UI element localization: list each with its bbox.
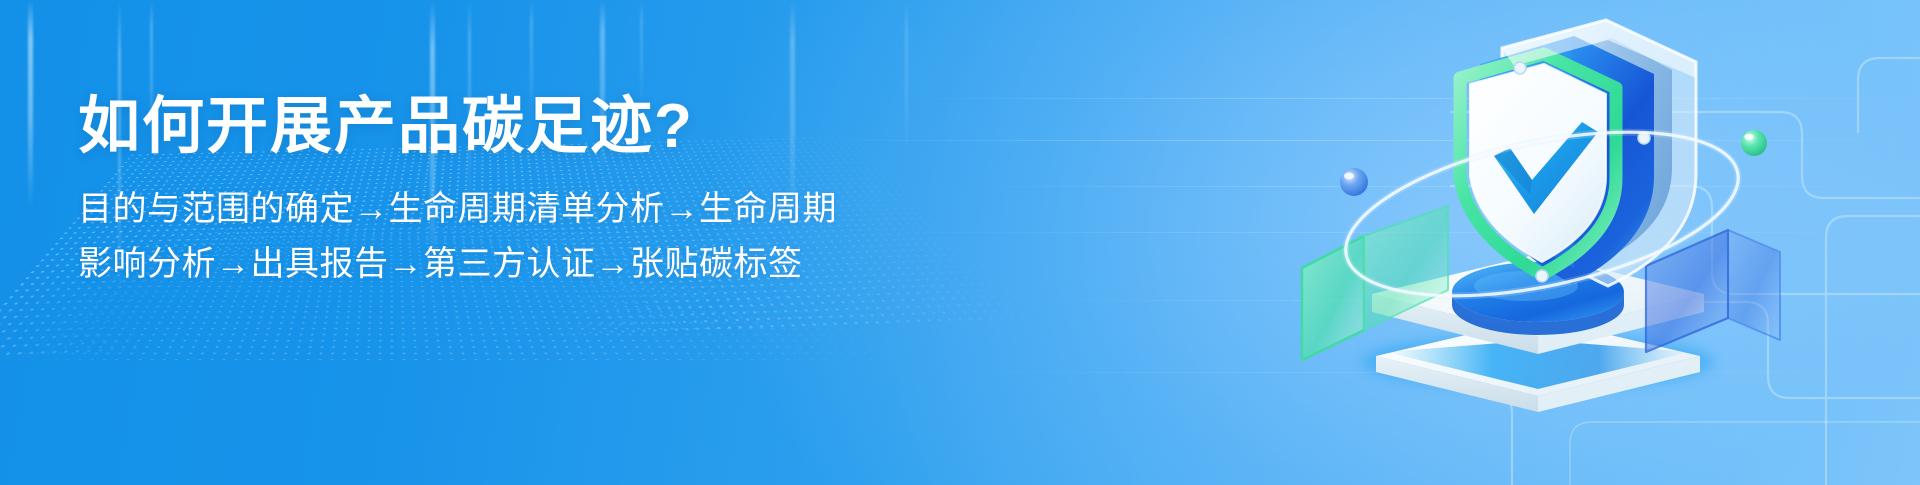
checkmark-icon xyxy=(1494,122,1598,214)
orbit-ring xyxy=(1331,102,1752,326)
banner-text-block: 如何开展产品碳足迹? 目的与范围的确定→生命周期清单分析→生命周期 影响分析→出… xyxy=(78,92,837,291)
horizontal-light-line-decor xyxy=(940,372,1920,373)
horizontal-light-line-decor xyxy=(880,232,1920,233)
banner-headline: 如何开展产品碳足迹? xyxy=(78,92,837,161)
shield-stud xyxy=(1638,132,1650,144)
glass-panel-right-blue xyxy=(1646,230,1780,352)
shield-back-plate xyxy=(1544,38,1672,258)
orbit-sphere-blue xyxy=(1340,168,1368,196)
promo-banner: 如何开展产品碳足迹? 目的与范围的确定→生命周期清单分析→生命周期 影响分析→出… xyxy=(0,0,1920,485)
horizontal-light-line-decor xyxy=(1000,300,1920,301)
hero-illustration xyxy=(1280,0,1800,485)
pedestal-platform xyxy=(1362,254,1714,412)
shield-outer-glass xyxy=(1502,20,1696,286)
circuit-path-decor xyxy=(1450,0,1920,485)
banner-subtitle-line-1: 目的与范围的确定→生命周期清单分析→生命周期 xyxy=(78,183,837,236)
shield-stud xyxy=(1536,270,1548,282)
shield-mint-ring xyxy=(1460,54,1616,274)
horizontal-light-line-decor xyxy=(900,98,1920,99)
orbit-sphere-green xyxy=(1741,130,1767,156)
shield-blue-body xyxy=(1480,36,1654,284)
pedestal-disc xyxy=(1452,262,1624,335)
shield-white-face xyxy=(1470,64,1606,262)
horizontal-light-line-decor xyxy=(950,186,1920,187)
glass-panel-left-green xyxy=(1302,206,1448,360)
horizontal-light-line-decor xyxy=(820,140,1920,141)
shield-group xyxy=(1460,20,1696,286)
light-streak-decor xyxy=(28,0,33,210)
shield-stud xyxy=(1514,62,1526,74)
light-streak-decor xyxy=(905,0,908,160)
banner-subtitle-line-2: 影响分析→出具报告→第三方认证→张贴碳标签 xyxy=(78,238,837,291)
